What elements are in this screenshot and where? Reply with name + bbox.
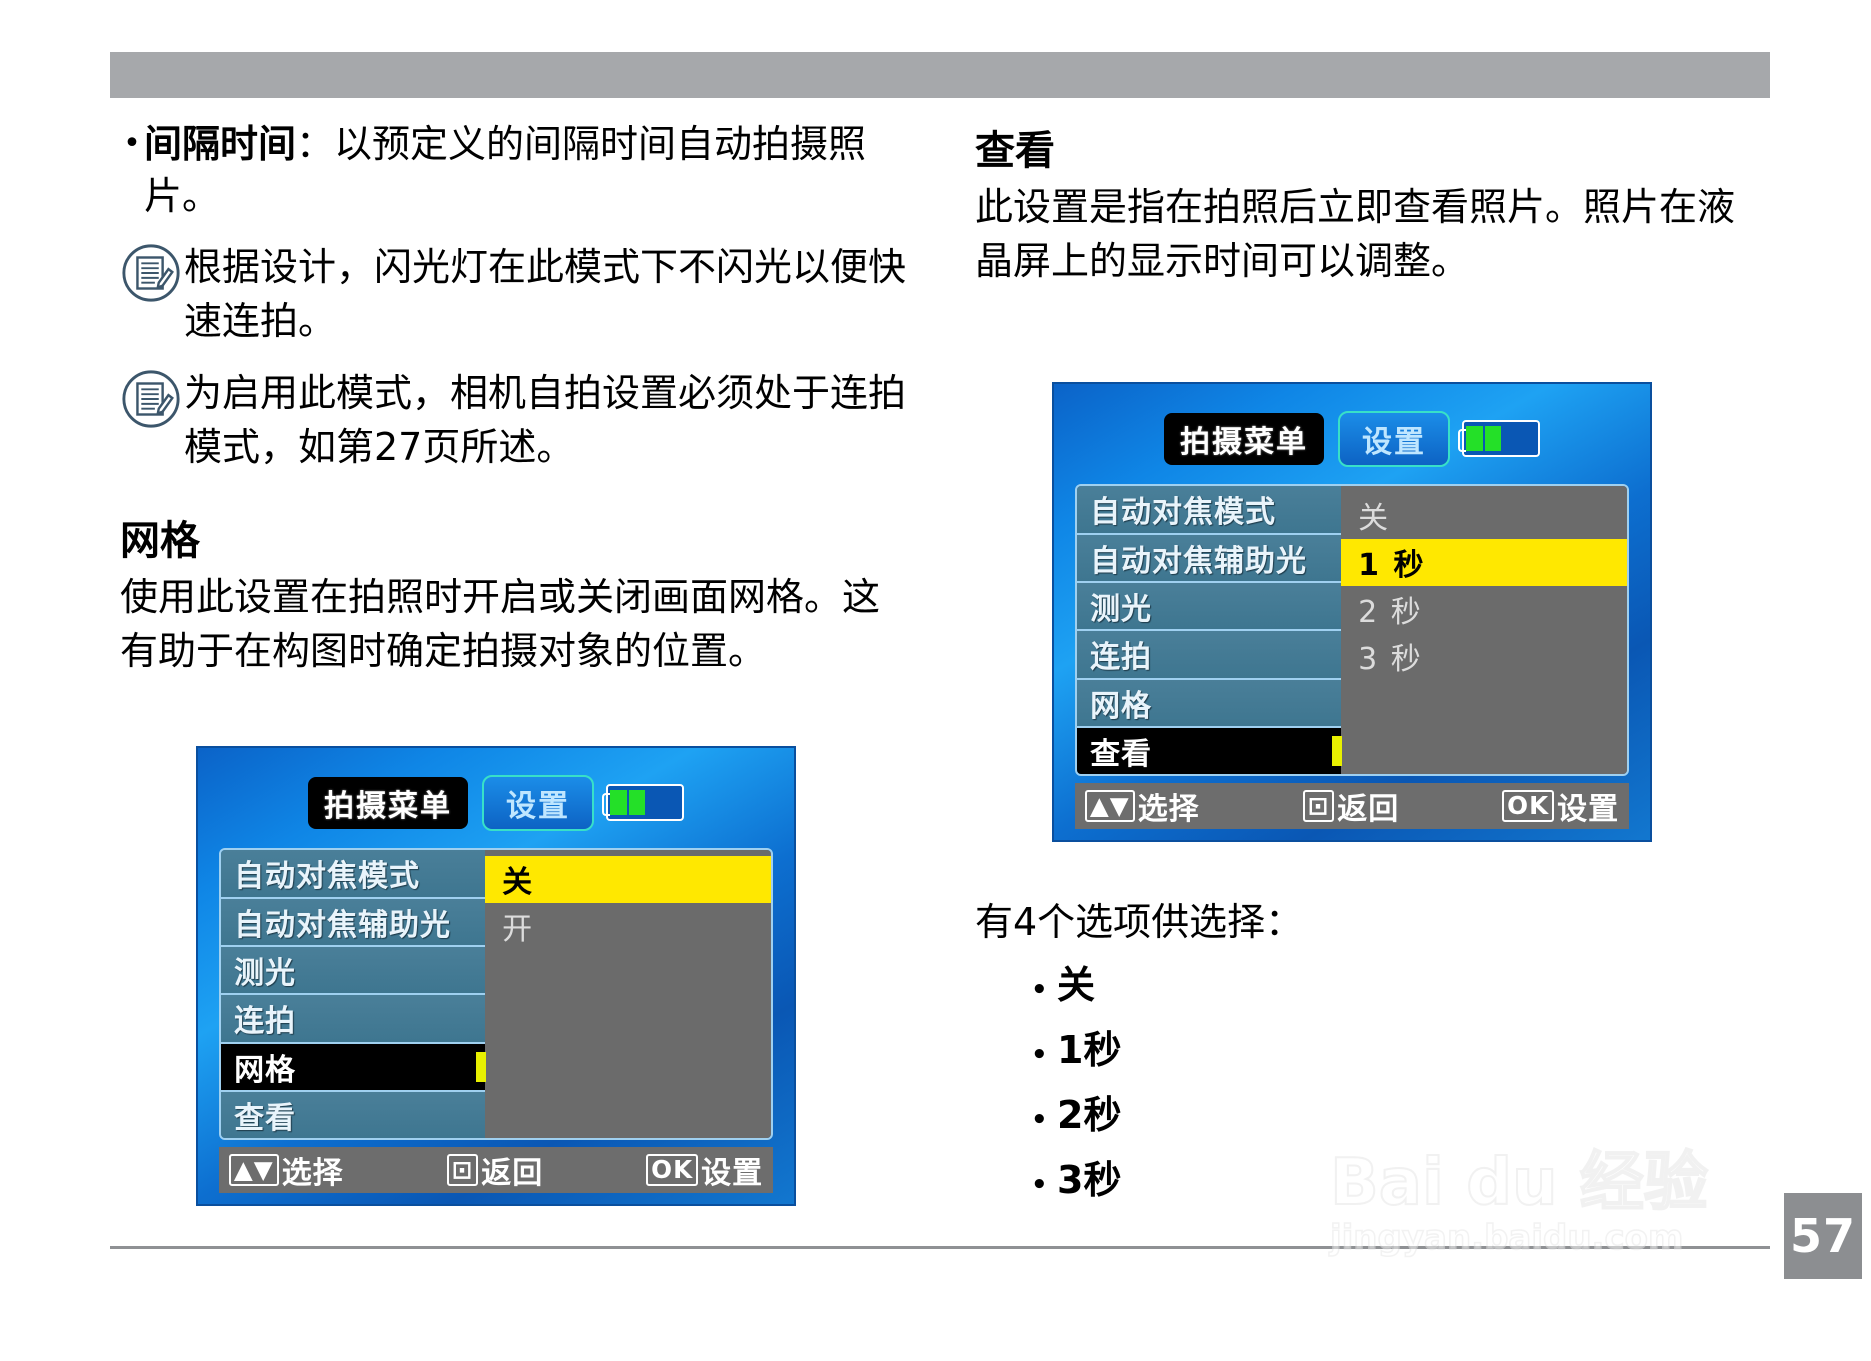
view-option-label: 1秒 [1057, 1020, 1121, 1080]
menu-column: 自动对焦模式 自动对焦辅助光 测光 连拍 网格 查看 [221, 850, 485, 1138]
option-column: 关 开 [485, 850, 771, 1138]
menu-item-af-assist[interactable]: 自动对焦辅助光 [1077, 535, 1341, 583]
view-options-list: •关 •1秒 •2秒 •3秒 [1031, 955, 1765, 1215]
lcd-footer-hints: ▲▼ 选择 ⊡ 返回 OK 设置 [1075, 783, 1629, 829]
lcd-menu-body: 自动对焦模式 自动对焦辅助光 测光 连拍 网格 查看 关 1 秒 2 秒 3 秒 [1075, 484, 1629, 776]
bullet-dot-icon: • [120, 118, 144, 170]
interval-term: 间隔时间 [144, 122, 296, 166]
bullet-dot-icon: • [1031, 1025, 1057, 1085]
view-option-label: 2秒 [1057, 1085, 1121, 1145]
option-off[interactable]: 关 [485, 856, 771, 903]
note-icon [120, 368, 182, 430]
lcd-top-bar: 拍摄菜单 设置 [198, 766, 794, 839]
menu-item-grid[interactable]: 网格 [1077, 680, 1341, 728]
menu-item-metering[interactable]: 测光 [221, 947, 485, 995]
hint-ok[interactable]: OK 设置 [646, 1148, 763, 1192]
lcd-menu-body: 自动对焦模式 自动对焦辅助光 测光 连拍 网格 查看 关 开 [219, 848, 773, 1140]
hint-select-label: 选择 [1138, 784, 1200, 828]
interval-separator: ： [296, 122, 334, 166]
hint-back[interactable]: ⊡ 返回 [1303, 784, 1400, 828]
menu-item-view[interactable]: 查看 [1077, 728, 1341, 774]
battery-icon [1462, 420, 1540, 458]
back-key-icon: ⊡ [1303, 790, 1335, 822]
lcd-footer-hints: ▲▼ 选择 ⊡ 返回 OK 设置 [219, 1147, 773, 1193]
option-on[interactable]: 开 [485, 903, 771, 950]
hint-back[interactable]: ⊡ 返回 [447, 1148, 544, 1192]
page-footer-rule [110, 1246, 1770, 1249]
note-burst: 为启用此模式，相机自拍设置必须处于连拍模式，如第27页所述。 [120, 366, 910, 474]
ok-key-icon: OK [1502, 790, 1554, 822]
note-flash: 根据设计，闪光灯在此模式下不闪光以便快速连拍。 [120, 240, 910, 348]
hint-back-label: 返回 [1337, 784, 1399, 828]
option-2s[interactable]: 2 秒 [1341, 586, 1627, 633]
grid-section-body: 使用此设置在拍照时开启或关闭画面网格。这有助于在构图时确定拍摄对象的位置。 [120, 570, 910, 678]
bullet-dot-icon: • [1031, 1155, 1057, 1215]
menu-item-metering[interactable]: 测光 [1077, 583, 1341, 631]
option-1s[interactable]: 1 秒 [1341, 539, 1627, 586]
hint-select[interactable]: ▲▼ 选择 [229, 1148, 344, 1192]
page-number: 57 [1784, 1193, 1862, 1279]
menu-item-view[interactable]: 查看 [221, 1092, 485, 1138]
grid-section-title: 网格 [120, 508, 910, 566]
camera-screen-grid: 拍摄菜单 设置 自动对焦模式 自动对焦辅助光 测光 连拍 网格 查看 关 开 ▲… [196, 746, 796, 1206]
list-item: •关 [1031, 955, 1765, 1020]
lcd-top-bar: 拍摄菜单 设置 [1054, 402, 1650, 475]
right-column: 查看 此设置是指在拍照后立即查看照片。照片在液晶屏上的显示时间可以调整。 [975, 118, 1765, 288]
updown-key-icon: ▲▼ [1085, 790, 1135, 822]
option-off[interactable]: 关 [1341, 492, 1627, 539]
list-item: •1秒 [1031, 1020, 1765, 1085]
watermark-sub-text: jingyan.baidu.com [1330, 1218, 1760, 1258]
tab-shooting-menu[interactable]: 拍摄菜单 [308, 777, 468, 829]
view-section-title: 查看 [975, 118, 1765, 176]
bullet-dot-icon: • [1031, 960, 1057, 1020]
menu-item-af-assist[interactable]: 自动对焦辅助光 [221, 899, 485, 947]
hint-select[interactable]: ▲▼ 选择 [1085, 784, 1200, 828]
view-options-intro: 有4个选项供选择： [975, 895, 1765, 949]
option-column: 关 1 秒 2 秒 3 秒 [1341, 486, 1627, 774]
list-item: •3秒 [1031, 1150, 1765, 1215]
menu-item-af-mode[interactable]: 自动对焦模式 [1077, 486, 1341, 534]
menu-column: 自动对焦模式 自动对焦辅助光 测光 连拍 网格 查看 [1077, 486, 1341, 774]
hint-ok-label: 设置 [1557, 784, 1619, 828]
tab-settings[interactable]: 设置 [1338, 411, 1450, 467]
hint-select-label: 选择 [282, 1148, 344, 1192]
view-option-label: 3秒 [1057, 1150, 1121, 1210]
tab-settings[interactable]: 设置 [482, 775, 594, 831]
note-flash-text: 根据设计，闪光灯在此模式下不闪光以便快速连拍。 [184, 240, 910, 348]
updown-key-icon: ▲▼ [229, 1154, 279, 1186]
left-column: • 间隔时间：以预定义的间隔时间自动拍摄照片。 根据设计，闪光灯在此模式下不闪光… [120, 118, 910, 678]
hint-back-label: 返回 [481, 1148, 543, 1192]
list-item: •2秒 [1031, 1085, 1765, 1150]
ok-key-icon: OK [646, 1154, 698, 1186]
view-option-label: 关 [1057, 955, 1095, 1015]
option-3s[interactable]: 3 秒 [1341, 632, 1627, 679]
menu-item-burst[interactable]: 连拍 [221, 995, 485, 1043]
battery-icon [606, 784, 684, 822]
bullet-dot-icon: • [1031, 1090, 1057, 1150]
tab-shooting-menu[interactable]: 拍摄菜单 [1164, 413, 1324, 465]
back-key-icon: ⊡ [447, 1154, 479, 1186]
camera-screen-view: 拍摄菜单 设置 自动对焦模式 自动对焦辅助光 测光 连拍 网格 查看 关 1 秒… [1052, 382, 1652, 842]
hint-ok[interactable]: OK 设置 [1502, 784, 1619, 828]
view-options-block: 有4个选项供选择： •关 •1秒 •2秒 •3秒 [975, 895, 1765, 1215]
page-header-bar [110, 52, 1770, 98]
menu-item-af-mode[interactable]: 自动对焦模式 [221, 850, 485, 898]
hint-ok-label: 设置 [701, 1148, 763, 1192]
menu-item-grid[interactable]: 网格 [221, 1044, 485, 1092]
note-burst-text: 为启用此模式，相机自拍设置必须处于连拍模式，如第27页所述。 [184, 366, 910, 474]
menu-item-burst[interactable]: 连拍 [1077, 631, 1341, 679]
interval-bullet: • 间隔时间：以预定义的间隔时间自动拍摄照片。 [120, 118, 910, 222]
view-section-body: 此设置是指在拍照后立即查看照片。照片在液晶屏上的显示时间可以调整。 [975, 180, 1765, 288]
note-icon [120, 242, 182, 304]
